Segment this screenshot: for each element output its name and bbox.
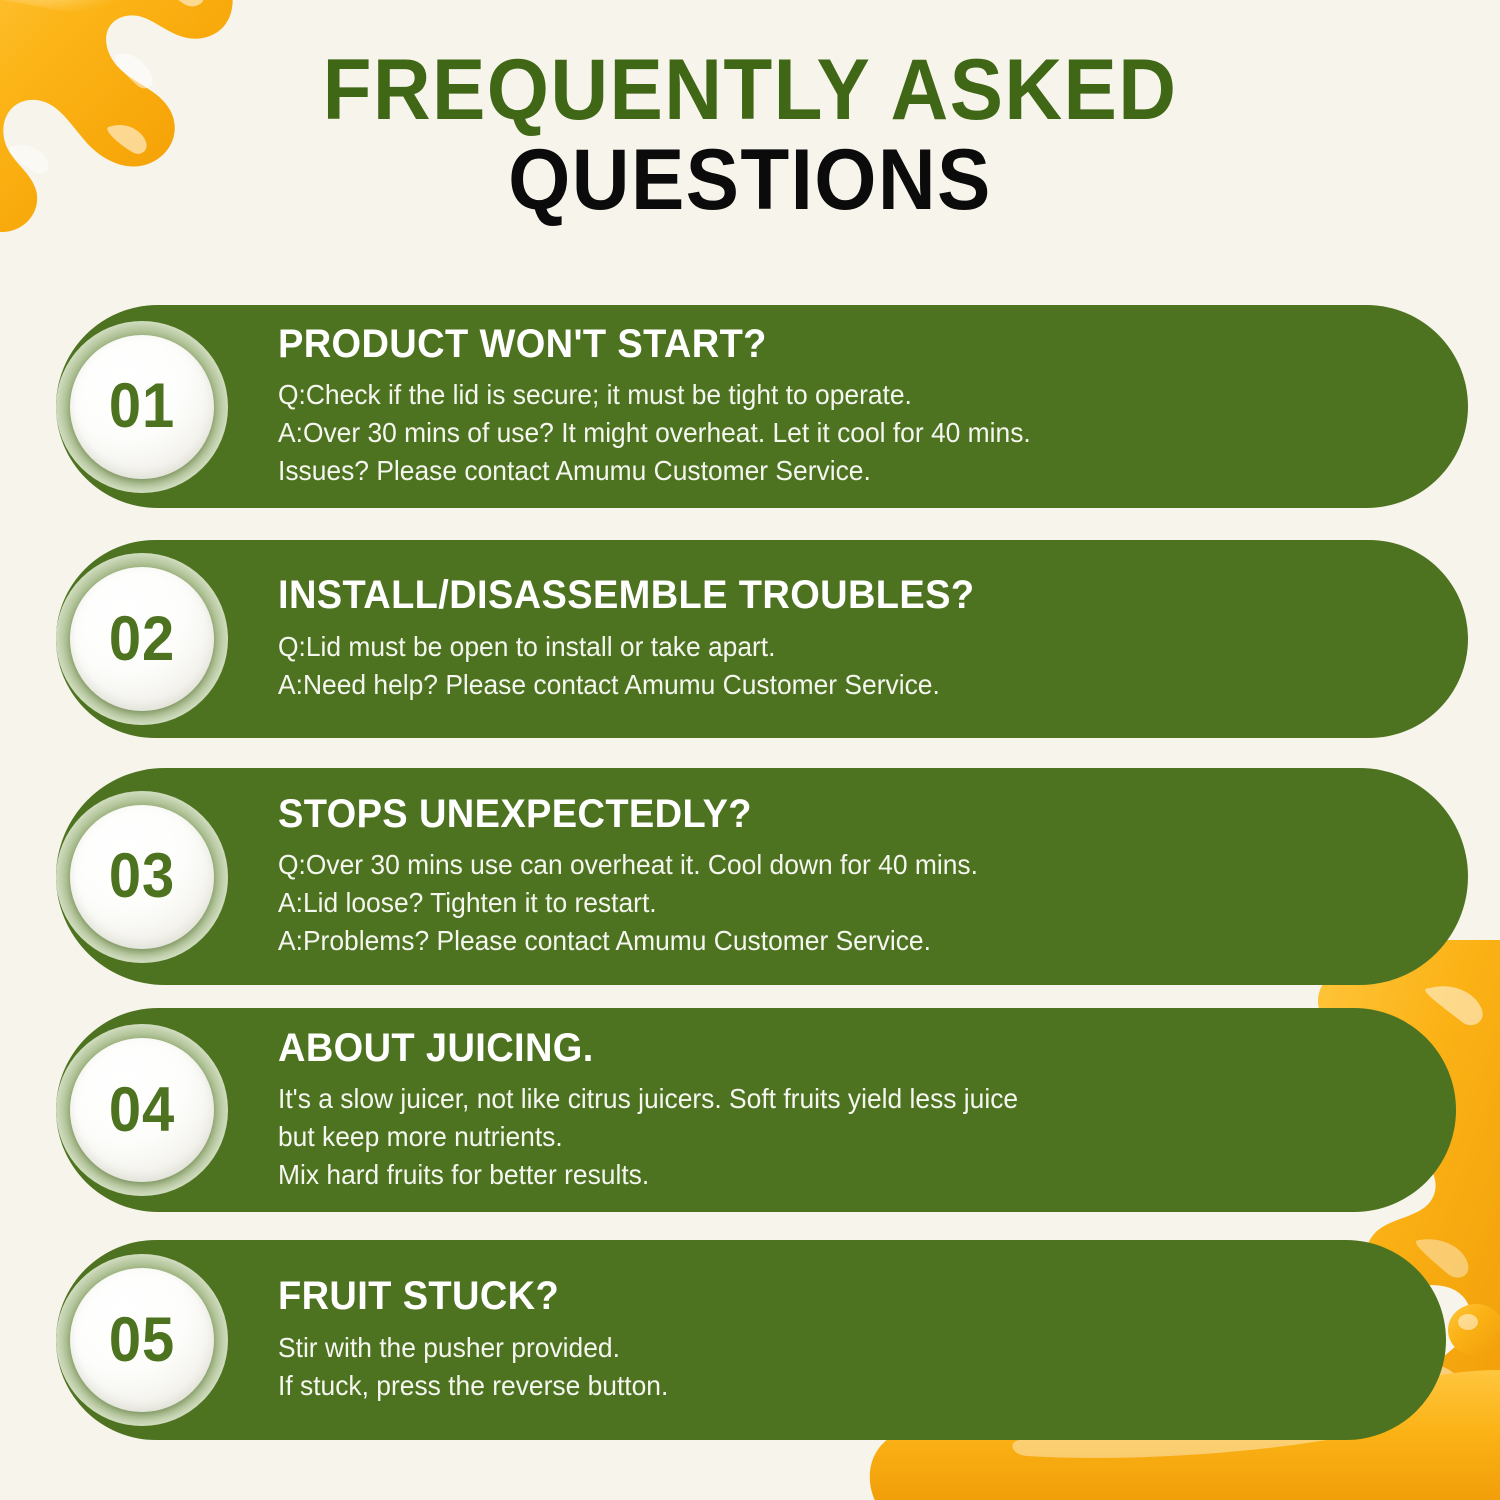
faq-answer-line: A:Problems? Please contact Amumu Custome… [278,922,1388,960]
faq-number-05: 05 [109,1309,175,1372]
faq-item-03[interactable]: 03 STOPS UNEXPECTEDLY? Q:Over 30 mins us… [56,768,1468,985]
faq-answer-line: Q:Check if the lid is secure; it must be… [278,376,1388,414]
faq-answers-01: Q:Check if the lid is secure; it must be… [278,376,1388,490]
faq-badge-02: 02 [56,553,228,725]
faq-number-04: 04 [109,1079,175,1142]
faq-number-03: 03 [109,845,175,908]
faq-answer-line: A:Lid loose? Tighten it to restart. [278,884,1388,922]
faq-answer-line: A:Need help? Please contact Amumu Custom… [278,666,1388,704]
faq-body-05: FRUIT STUCK? Stir with the pusher provid… [278,1240,1412,1440]
faq-badge-circle-04: 04 [70,1038,214,1182]
faq-answer-line: Mix hard fruits for better results. [278,1156,1376,1194]
faq-question-03: STOPS UNEXPECTEDLY? [278,793,1376,836]
faq-answer-line: If stuck, press the reverse button. [278,1367,1367,1405]
faq-infographic: FREQUENTLY ASKED QUESTIONS 01 PRODUCT WO… [0,0,1500,1500]
faq-answer-line: Q:Over 30 mins use can overheat it. Cool… [278,846,1388,884]
faq-item-04[interactable]: 04 ABOUT JUICING. It's a slow juicer, no… [56,1008,1456,1212]
faq-question-04: ABOUT JUICING. [278,1027,1365,1070]
faq-badge-circle-01: 01 [70,335,214,479]
faq-answers-05: Stir with the pusher provided. If stuck,… [278,1329,1367,1405]
faq-answers-04: It's a slow juicer, not like citrus juic… [278,1080,1376,1194]
faq-badge-04: 04 [56,1024,228,1196]
faq-item-02[interactable]: 02 INSTALL/DISASSEMBLE TROUBLES? Q:Lid m… [56,540,1468,738]
faq-answer-line: Stir with the pusher provided. [278,1329,1367,1367]
faq-answer-line: but keep more nutrients. [278,1118,1376,1156]
faq-answers-02: Q:Lid must be open to install or take ap… [278,628,1388,704]
faq-answer-line: It's a slow juicer, not like citrus juic… [278,1080,1376,1118]
faq-answer-line: Q:Lid must be open to install or take ap… [278,628,1388,666]
faq-number-01: 01 [109,375,175,438]
faq-item-05[interactable]: 05 FRUIT STUCK? Stir with the pusher pro… [56,1240,1446,1440]
faq-badge-circle-03: 03 [70,805,214,949]
faq-list: 01 PRODUCT WON'T START? Q:Check if the l… [0,0,1500,1500]
faq-body-03: STOPS UNEXPECTEDLY? Q:Over 30 mins use c… [278,768,1434,985]
faq-badge-01: 01 [56,321,228,493]
faq-answer-line: A:Over 30 mins of use? It might overheat… [278,414,1388,452]
faq-body-02: INSTALL/DISASSEMBLE TROUBLES? Q:Lid must… [278,540,1434,738]
faq-question-01: PRODUCT WON'T START? [278,323,1376,366]
faq-question-05: FRUIT STUCK? [278,1275,1355,1318]
faq-number-02: 02 [109,608,175,671]
faq-answer-line: Issues? Please contact Amumu Customer Se… [278,452,1388,490]
faq-item-01[interactable]: 01 PRODUCT WON'T START? Q:Check if the l… [56,305,1468,508]
faq-body-01: PRODUCT WON'T START? Q:Check if the lid … [278,305,1434,508]
faq-body-04: ABOUT JUICING. It's a slow juicer, not l… [278,1008,1422,1212]
faq-badge-circle-02: 02 [70,567,214,711]
faq-badge-05: 05 [56,1254,228,1426]
faq-question-02: INSTALL/DISASSEMBLE TROUBLES? [278,574,1376,617]
faq-answers-03: Q:Over 30 mins use can overheat it. Cool… [278,846,1388,960]
faq-badge-03: 03 [56,791,228,963]
faq-badge-circle-05: 05 [70,1268,214,1412]
